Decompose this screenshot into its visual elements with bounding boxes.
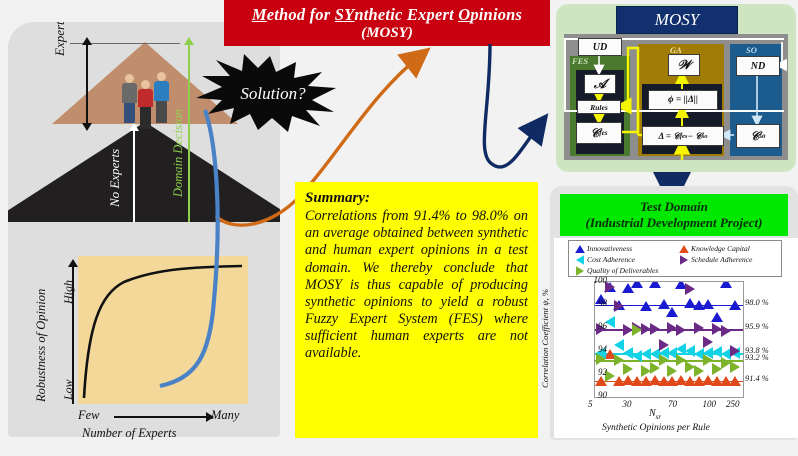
- robustness-chart: Robustness of Opinion Low High Few Many …: [16, 244, 280, 456]
- data-point: [703, 336, 713, 348]
- data-point: [576, 266, 584, 276]
- summary-heading: Summary:: [305, 190, 528, 207]
- y-tick-label: 90: [598, 390, 607, 400]
- navy-arrow-to-mosy: [484, 44, 540, 167]
- title-pinions: pinions: [470, 5, 522, 24]
- mosy-title: MOSY: [616, 6, 738, 34]
- robustness-many-label: Many: [211, 408, 239, 423]
- no-experts-arrow: [133, 130, 135, 222]
- mean-value-label: 93.2 %: [745, 353, 769, 362]
- robustness-low-label: Low: [61, 379, 76, 400]
- data-point: [694, 365, 704, 377]
- mean-value-label: 98.0 %: [745, 298, 769, 307]
- solution-starburst: Solution?: [196, 54, 336, 134]
- legend-item-label: Innovativeness: [587, 244, 632, 253]
- test-domain-panel: Test Domain (Industrial Development Proj…: [550, 186, 798, 440]
- data-point: [729, 300, 741, 310]
- node-delta: Δ = 𝒞fes − 𝒞so: [642, 126, 724, 146]
- node-rules: Rules: [577, 100, 621, 114]
- title-m: M: [252, 5, 267, 24]
- data-point: [650, 323, 660, 335]
- test-domain-line-2: (Industrial Development Project): [586, 215, 763, 231]
- data-point: [659, 339, 669, 351]
- chart-legend: InnovativenessKnowledge CapitalCost Adhe…: [568, 240, 782, 277]
- no-experts-label: No Experts: [107, 149, 123, 207]
- title-o: O: [458, 5, 470, 24]
- node-cfes: 𝒞fes: [576, 122, 622, 144]
- test-domain-banner: Test Domain (Industrial Development Proj…: [560, 194, 788, 236]
- data-point: [679, 245, 689, 253]
- x-tick-label: 100: [703, 399, 717, 409]
- domain-decision-arrow: [188, 44, 190, 222]
- legend-item-label: Cost Adherence: [587, 255, 635, 264]
- chart-plot-area: [594, 281, 744, 398]
- data-point: [575, 245, 585, 253]
- robustness-curve: [78, 256, 248, 404]
- node-cso: 𝒞so: [736, 124, 780, 148]
- data-point: [666, 307, 678, 317]
- x-tick-label: 250: [726, 399, 740, 409]
- robustness-plot-area: [78, 256, 248, 404]
- solution-label: Solution?: [196, 54, 336, 134]
- robustness-high-label: High: [61, 280, 76, 304]
- data-point: [721, 325, 731, 337]
- data-point: [596, 353, 606, 365]
- node-a: 𝒜: [584, 74, 616, 94]
- title-ethod: ethod for: [267, 5, 335, 24]
- robustness-x-arrow: [114, 416, 206, 418]
- title-banner: Method for SYnthetic Expert Opinions (MO…: [224, 0, 550, 46]
- title-sy: SY: [335, 5, 355, 24]
- y-tick-label: 100: [594, 275, 608, 285]
- data-point: [720, 281, 732, 288]
- title-line-1: Method for SYnthetic Expert Opinions: [252, 5, 522, 25]
- data-point: [702, 299, 714, 309]
- node-nd: ND: [736, 56, 780, 76]
- mosy-panel: MOSY FES GA SO: [556, 4, 796, 172]
- data-point: [576, 255, 584, 265]
- legend-item-label: Knowledge Capital: [691, 244, 750, 253]
- data-point: [711, 312, 723, 322]
- mean-value-label: 91.4 %: [745, 374, 769, 383]
- y-tick-label: 94: [598, 344, 607, 354]
- pyramid-base-shape: [8, 122, 280, 222]
- pyramid-ground: [8, 220, 280, 222]
- data-point: [730, 345, 740, 357]
- node-ud: UD: [578, 38, 622, 56]
- data-point: [623, 363, 633, 375]
- data-point: [694, 322, 704, 334]
- data-point: [685, 283, 695, 295]
- experts-arrow: [86, 44, 88, 124]
- y-tick-label: 92: [598, 367, 607, 377]
- legend-item-label: Quality of Deliverables: [587, 266, 658, 275]
- graphical-abstract: Experts No Experts Domain Decision Robus…: [0, 0, 798, 443]
- chart-ylabel: Correlation Coefficient ψ, %: [540, 289, 550, 388]
- test-domain-line-1: Test Domain: [640, 199, 708, 215]
- data-point: [614, 300, 624, 312]
- data-point: [649, 281, 661, 288]
- correlation-chart: InnovativenessKnowledge CapitalCost Adhe…: [554, 238, 798, 438]
- data-point: [729, 376, 741, 386]
- mosy-diagram: FES GA SO: [564, 34, 788, 160]
- robustness-ylabel: Robustness of Opinion: [34, 289, 49, 402]
- title-nthetic: nthetic Expert: [354, 5, 458, 24]
- data-point: [632, 324, 642, 336]
- summary-box: Summary: Correlations from 91.4% to 98.0…: [295, 182, 538, 438]
- chart-xlabel: Nsr: [649, 408, 661, 421]
- data-point: [676, 324, 686, 336]
- domain-decision-label: Domain Decision: [171, 109, 186, 197]
- data-point: [667, 365, 677, 377]
- x-tick-label: 5: [588, 399, 593, 409]
- robustness-xlabel: Number of Experts: [82, 426, 176, 441]
- y-tick-label: 98: [598, 298, 607, 308]
- data-point: [680, 255, 688, 265]
- node-w: 𝒲: [668, 54, 700, 76]
- data-point: [730, 361, 740, 373]
- x-tick-label: 70: [668, 399, 677, 409]
- data-point: [631, 281, 643, 288]
- data-point: [640, 301, 652, 311]
- y-tick-label: 96: [598, 321, 607, 331]
- mean-value-label: 95.9 %: [745, 322, 769, 331]
- summary-body: Correlations from 91.4% to 98.0% on an a…: [305, 208, 528, 363]
- title-line-2: (MOSY): [361, 25, 413, 42]
- chart-xlabel-caption: Synthetic Opinions per Rule: [602, 422, 710, 433]
- x-tick-label: 30: [623, 399, 632, 409]
- node-phi: ϕ = ||Δ||: [648, 90, 718, 110]
- legend-item-label: Schedule Adherence: [691, 255, 752, 264]
- experts-label: Experts: [52, 22, 68, 56]
- robustness-few-label: Few: [78, 408, 100, 423]
